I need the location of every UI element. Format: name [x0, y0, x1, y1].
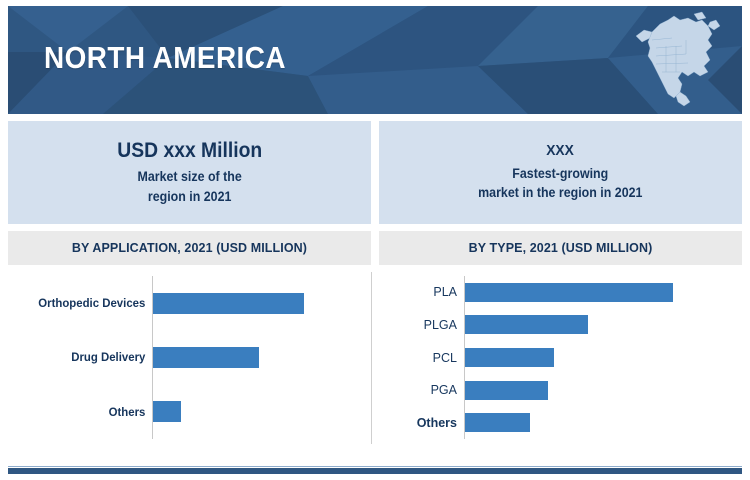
footer-bar — [8, 466, 742, 474]
fastest-growing-card: XXX Fastest-growing market in the region… — [379, 121, 742, 224]
bar-category-label: Others — [15, 405, 152, 419]
bar-row: Orthopedic Devices — [8, 276, 371, 330]
bar-row: PCL — [371, 341, 742, 374]
bar-row: Others — [371, 406, 742, 439]
infographic-canvas: NORTH AMERICA USD xxx Mi — [0, 0, 750, 480]
fastest-growing-value: XXX — [547, 142, 575, 159]
footer-thin-line — [8, 466, 742, 467]
bar-row: PLGA — [371, 309, 742, 342]
bar-category-label: Orthopedic Devices — [15, 296, 152, 310]
charts-row: Orthopedic DevicesDrug DeliveryOthers PL… — [8, 270, 742, 447]
bar — [465, 413, 530, 432]
footer-thick-line — [8, 468, 742, 474]
bar-category-label: PLA — [371, 285, 464, 299]
market-size-description: Market size of the region in 2021 — [137, 167, 241, 206]
by-application-bar-chart: Orthopedic DevicesDrug DeliveryOthers — [8, 270, 371, 447]
fastest-growing-description-line1: Fastest-growing — [478, 164, 642, 184]
bar — [153, 347, 259, 368]
bar-category-label: PLGA — [371, 318, 464, 332]
bar-category-label: PCL — [371, 351, 464, 365]
page-title: NORTH AMERICA — [44, 40, 286, 76]
bar-category-label: Drug Delivery — [15, 350, 152, 364]
bar — [465, 381, 548, 400]
north-america-map-icon — [622, 10, 726, 110]
market-size-card: USD xxx Million Market size of the regio… — [8, 121, 371, 224]
by-type-band-title: BY TYPE, 2021 (USD MILLION) — [379, 231, 742, 265]
bar — [465, 315, 588, 334]
region-header-banner: NORTH AMERICA — [8, 6, 742, 114]
section-bands-row: BY APPLICATION, 2021 (USD MILLION) BY TY… — [8, 231, 742, 265]
bar-category-label: PGA — [371, 383, 464, 397]
bar-category-label: Others — [371, 416, 464, 430]
bar-row: Others — [8, 385, 371, 439]
market-size-description-line1: Market size of the — [137, 167, 241, 187]
bar — [153, 401, 181, 422]
bar-row: PLA — [371, 276, 742, 309]
by-application-band-title: BY APPLICATION, 2021 (USD MILLION) — [8, 231, 371, 265]
fastest-growing-description: Fastest-growing market in the region in … — [478, 164, 642, 203]
bar-row: PGA — [371, 374, 742, 407]
bar-row: Drug Delivery — [8, 330, 371, 384]
bar — [465, 283, 673, 302]
bar — [153, 293, 304, 314]
market-size-description-line2: region in 2021 — [137, 187, 241, 207]
bar — [465, 348, 554, 367]
by-application-chart-container: Orthopedic DevicesDrug DeliveryOthers — [8, 270, 371, 447]
stat-cards-row: USD xxx Million Market size of the regio… — [8, 121, 742, 224]
market-size-value: USD xxx Million — [117, 139, 262, 163]
by-type-bar-chart: PLAPLGAPCLPGAOthers — [371, 270, 742, 447]
by-type-chart-container: PLAPLGAPCLPGAOthers — [371, 270, 742, 447]
fastest-growing-description-line2: market in the region in 2021 — [478, 183, 642, 203]
